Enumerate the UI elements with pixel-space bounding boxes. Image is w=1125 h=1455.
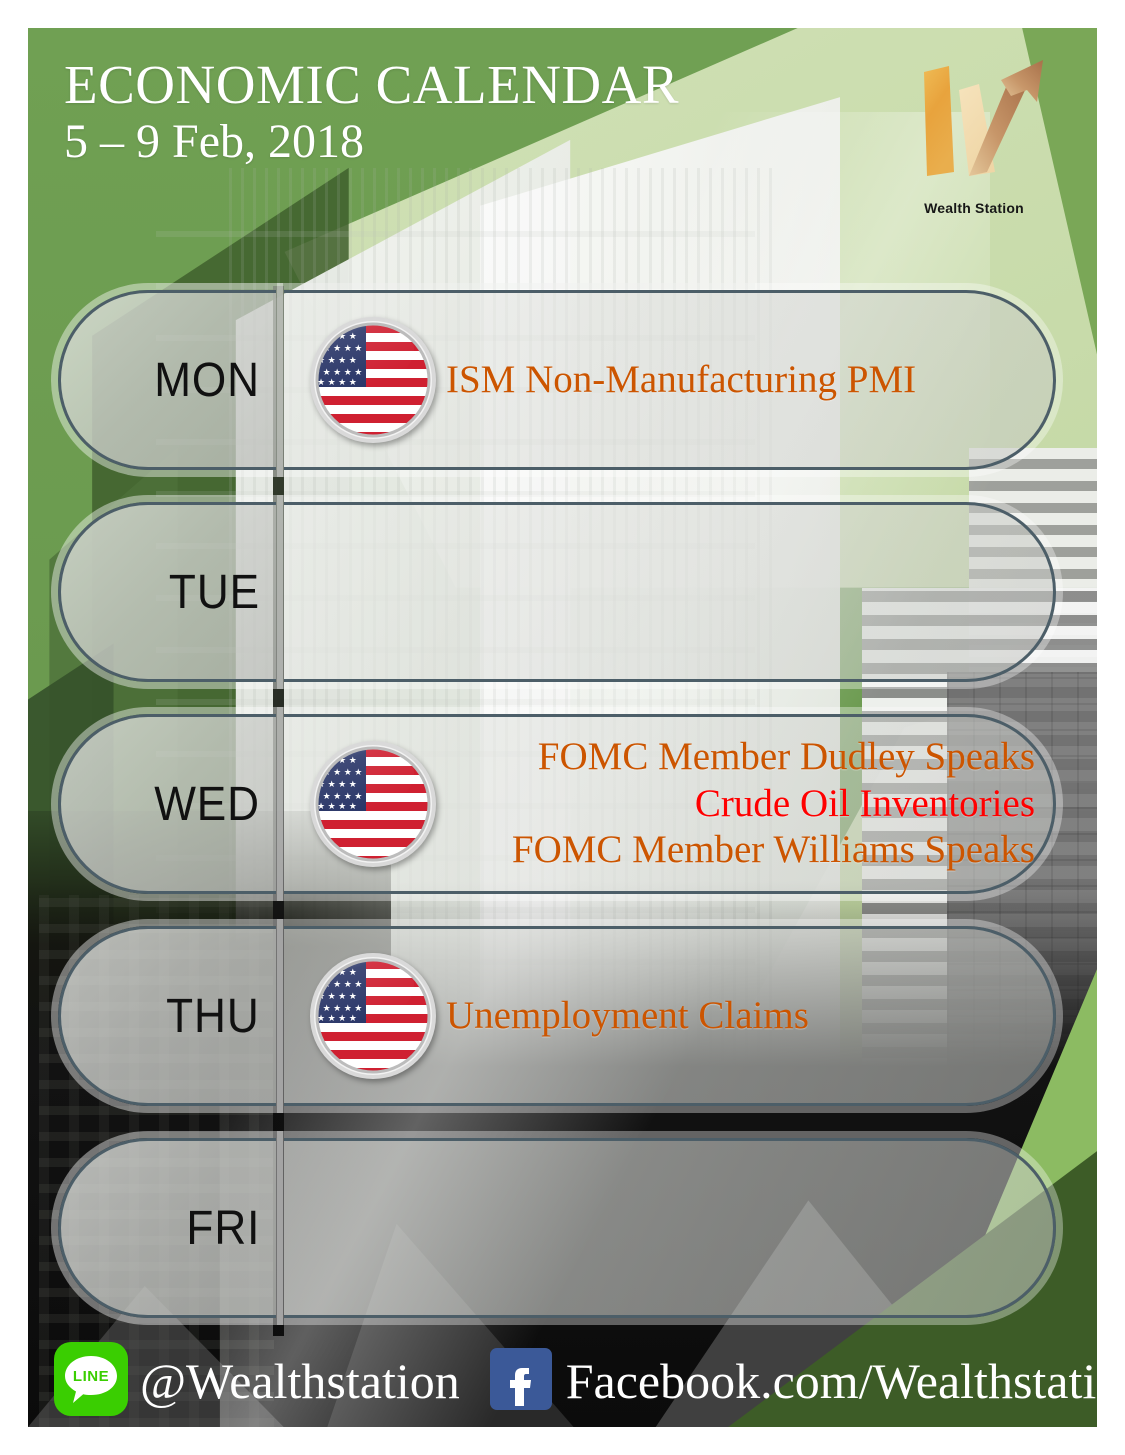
us-flag-icon: ★ ★ ★ ★ ★ ★ ★ ★ ★ ★ ★ ★ ★ ★ ★ ★ ★ ★ ★ ★ … xyxy=(308,315,438,445)
event-text: FOMC Member Williams Speaks xyxy=(446,827,1035,874)
event-list-wed: FOMC Member Dudley Speaks Crude Oil Inve… xyxy=(438,734,1053,874)
line-handle-text[interactable]: @Wealthstation xyxy=(140,1352,460,1410)
day-cell-thu[interactable]: THU xyxy=(58,926,276,1106)
calendar-row-tue: TUE xyxy=(28,502,1097,682)
header: ECONOMIC CALENDAR 5 – 9 Feb, 2018 xyxy=(28,28,1097,286)
event-text: Unemployment Claims xyxy=(446,993,809,1040)
svg-text:LINE: LINE xyxy=(73,1368,109,1385)
event-cell-tue[interactable] xyxy=(284,502,1056,682)
wealth-station-logo: Wealth Station xyxy=(891,50,1057,216)
calendar-grid: MON xyxy=(28,286,1097,1336)
day-cell-tue[interactable]: TUE xyxy=(58,502,276,682)
us-flag-icon: ★ ★ ★ ★ ★ ★ ★ ★ ★ ★ ★ ★ ★ ★ ★ ★ ★ ★ ★ ★ … xyxy=(308,951,438,1081)
day-cell-fri[interactable]: FRI xyxy=(58,1138,276,1318)
line-icon[interactable]: LINE xyxy=(54,1342,128,1421)
date-range: 5 – 9 Feb, 2018 xyxy=(64,117,679,167)
poster-canvas: ECONOMIC CALENDAR 5 – 9 Feb, 2018 xyxy=(28,28,1097,1427)
calendar-row-wed: WED xyxy=(28,714,1097,894)
us-flag-icon: ★ ★ ★ ★ ★ ★ ★ ★ ★ ★ ★ ★ ★ ★ ★ ★ ★ ★ ★ ★ … xyxy=(308,739,438,869)
facebook-url-text[interactable]: Facebook.com/Wealthstation xyxy=(566,1352,1097,1410)
event-list-thu: Unemployment Claims xyxy=(438,993,1053,1040)
day-label-tue: TUE xyxy=(169,565,260,620)
event-cell-wed[interactable]: ★ ★ ★ ★ ★ ★ ★ ★ ★ ★ ★ ★ ★ ★ ★ ★ ★ ★ ★ ★ … xyxy=(284,714,1056,894)
day-label-thu: THU xyxy=(166,989,260,1044)
event-cell-fri[interactable] xyxy=(284,1138,1056,1318)
day-cell-wed[interactable]: WED xyxy=(58,714,276,894)
day-label-mon: MON xyxy=(154,353,260,408)
calendar-row-thu: THU xyxy=(28,926,1097,1106)
event-text: FOMC Member Dudley Speaks xyxy=(446,734,1035,781)
page-title: ECONOMIC CALENDAR xyxy=(64,56,679,113)
day-label-fri: FRI xyxy=(186,1201,260,1256)
event-cell-mon[interactable]: ★ ★ ★ ★ ★ ★ ★ ★ ★ ★ ★ ★ ★ ★ ★ ★ ★ ★ ★ ★ … xyxy=(284,290,1056,470)
logo-mark-icon xyxy=(891,50,1057,216)
event-text: Crude Oil Inventories xyxy=(446,781,1035,828)
event-list-mon: ISM Non-Manufacturing PMI xyxy=(438,357,1053,404)
day-cell-mon[interactable]: MON xyxy=(58,290,276,470)
logo-label: Wealth Station xyxy=(891,200,1057,216)
facebook-icon[interactable] xyxy=(490,1348,552,1415)
day-label-wed: WED xyxy=(154,777,260,832)
footer-contact-bar: LINE @Wealthstation Facebook.com/Wealths… xyxy=(28,1335,1097,1427)
calendar-row-mon: MON xyxy=(28,290,1097,470)
event-text: ISM Non-Manufacturing PMI xyxy=(446,357,916,404)
title-block: ECONOMIC CALENDAR 5 – 9 Feb, 2018 xyxy=(64,56,679,167)
calendar-row-fri: FRI xyxy=(28,1138,1097,1318)
event-cell-thu[interactable]: ★ ★ ★ ★ ★ ★ ★ ★ ★ ★ ★ ★ ★ ★ ★ ★ ★ ★ ★ ★ … xyxy=(284,926,1056,1106)
